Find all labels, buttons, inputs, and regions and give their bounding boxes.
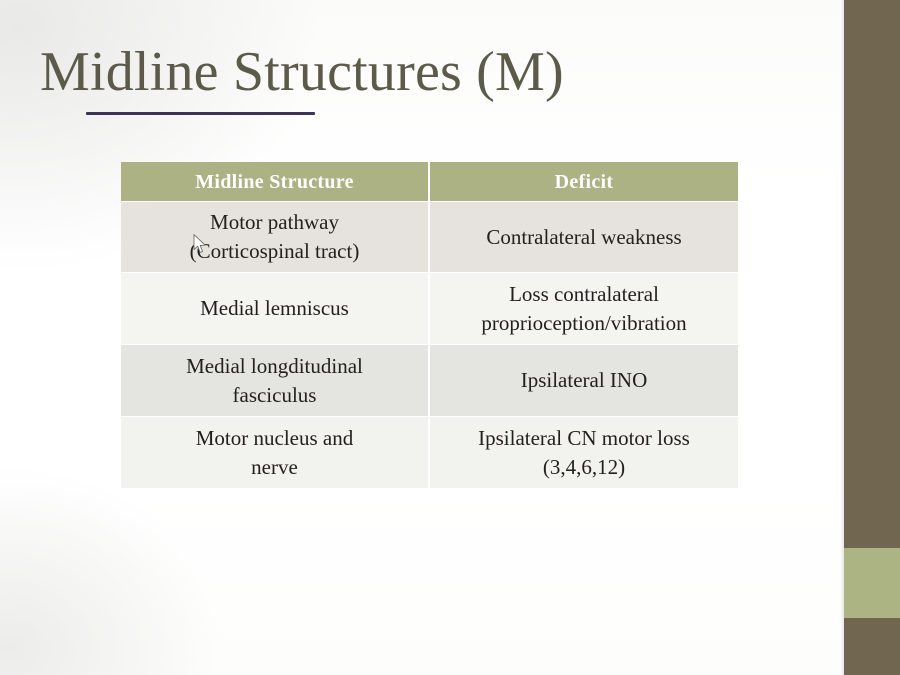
- cell-text-line: Medial longditudinal: [129, 352, 420, 381]
- cell-text-line: Contralateral weakness: [438, 223, 730, 252]
- cell-text-line: (3,4,6,12): [438, 453, 730, 482]
- title-block: Midline Structures (M): [40, 40, 820, 104]
- cell-deficit: Ipsilateral CN motor loss (3,4,6,12): [430, 417, 738, 488]
- sidebar-accent-block: [844, 548, 900, 618]
- midline-structures-table: Midline Structure Deficit Motor pathway …: [119, 161, 736, 489]
- title-underline-rule: [86, 112, 315, 115]
- cell-text-line: Motor nucleus and: [129, 424, 420, 453]
- cell-text-line: fasciculus: [129, 381, 420, 410]
- cell-text-line: nerve: [129, 453, 420, 482]
- cell-deficit: Ipsilateral INO: [430, 345, 738, 416]
- cell-text-line: proprioception/vibration: [438, 309, 730, 338]
- table-row: Medial longditudinal fasciculus Ipsilate…: [121, 345, 738, 416]
- cell-structure: Medial lemniscus: [121, 273, 428, 344]
- cell-structure: Motor pathway (Corticospinal tract): [121, 202, 428, 272]
- table-row: Motor pathway (Corticospinal tract) Cont…: [121, 202, 738, 272]
- table-header-row: Midline Structure Deficit: [121, 162, 738, 201]
- table-row: Motor nucleus and nerve Ipsilateral CN m…: [121, 417, 738, 488]
- column-header-deficit: Deficit: [430, 162, 738, 201]
- table-row: Medial lemniscus Loss contralateral prop…: [121, 273, 738, 344]
- cell-deficit: Contralateral weakness: [430, 202, 738, 272]
- page-title: Midline Structures (M): [40, 40, 820, 104]
- cell-text-line: Ipsilateral CN motor loss: [438, 424, 730, 453]
- column-header-structure: Midline Structure: [121, 162, 428, 201]
- cell-deficit: Loss contralateral proprioception/vibrat…: [430, 273, 738, 344]
- cell-text-line: Medial lemniscus: [129, 294, 420, 323]
- cell-structure: Medial longditudinal fasciculus: [121, 345, 428, 416]
- cell-text-line: Motor pathway: [129, 208, 420, 237]
- cell-text-line: (Corticospinal tract): [129, 237, 420, 266]
- presentation-slide: Midline Structures (M) Midline Structure…: [0, 0, 900, 675]
- cell-text-line: Loss contralateral: [438, 280, 730, 309]
- cell-text-line: Ipsilateral INO: [438, 366, 730, 395]
- cell-structure: Motor nucleus and nerve: [121, 417, 428, 488]
